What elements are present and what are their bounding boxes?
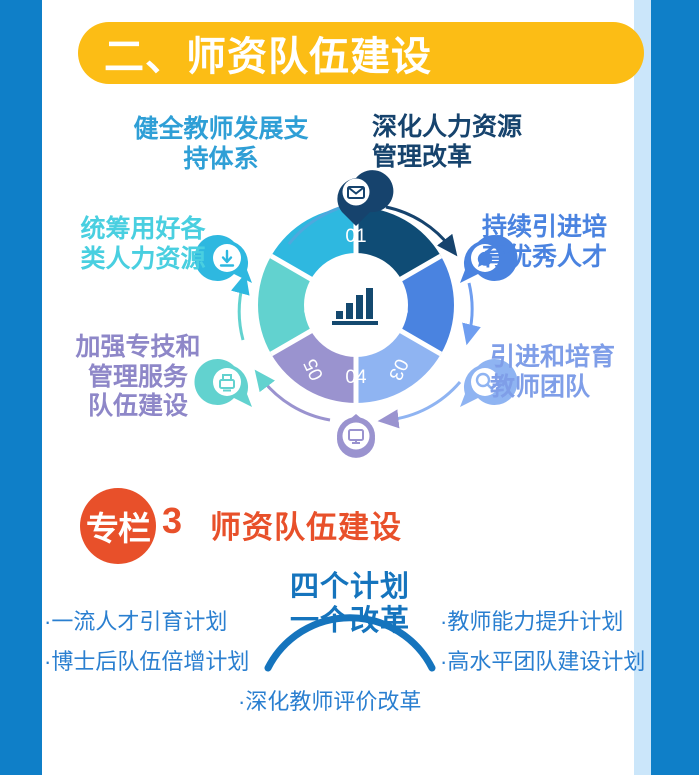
left-edge-bar	[0, 0, 42, 775]
plans-block: 四个计划 一个改革 ·一流人才引育计划 ·博士后队伍倍增计划 ·教师能力提升计划…	[42, 560, 651, 710]
plan-item-right-1: ·教师能力提升计划	[440, 604, 623, 636]
plan-item-left-2: ·博士后队伍倍增计划	[44, 644, 249, 676]
section-title-text: 二、师资队伍建设	[104, 24, 432, 82]
plan-item-left-1: ·一流人才引育计划	[44, 604, 227, 636]
arrow-05-to-06	[239, 283, 243, 340]
plans-bracket-text: 四个计划 一个改革	[260, 570, 440, 638]
arrow-02-to-03	[469, 283, 472, 335]
infographic-page: 二、师资队伍建设	[0, 0, 699, 775]
segment-number-01: 01	[345, 226, 366, 247]
wheel-label-05: 统筹用好各 类人力资源	[50, 215, 236, 274]
segment-number-04: 04	[345, 367, 367, 388]
radial-diagram: 01 02 03 04 05 06	[42, 95, 651, 485]
wheel-label-01: 深化人力资源 管理改革	[372, 113, 602, 172]
wheel-label-06: 健全教师发展支 持体系	[106, 115, 336, 174]
plan-item-right-2: ·高水平团队建设计划	[440, 644, 645, 676]
wheel-label-04: 加强专技和 管理服务 队伍建设	[42, 333, 234, 422]
section-title-pill: 二、师资队伍建设	[78, 22, 644, 84]
plan-item-bottom: ·深化教师评价改革	[238, 684, 421, 716]
column-title: 师资队伍建设	[210, 502, 402, 547]
monitor-icon	[337, 414, 375, 458]
column-badge-number: 3	[162, 500, 182, 542]
wheel-label-03: 引进和培育 教师团队	[490, 343, 670, 402]
wheel-label-02: 持续引进培 育优秀人才	[482, 213, 662, 272]
column-badge-row: 专栏 3 师资队伍建设	[42, 488, 651, 568]
